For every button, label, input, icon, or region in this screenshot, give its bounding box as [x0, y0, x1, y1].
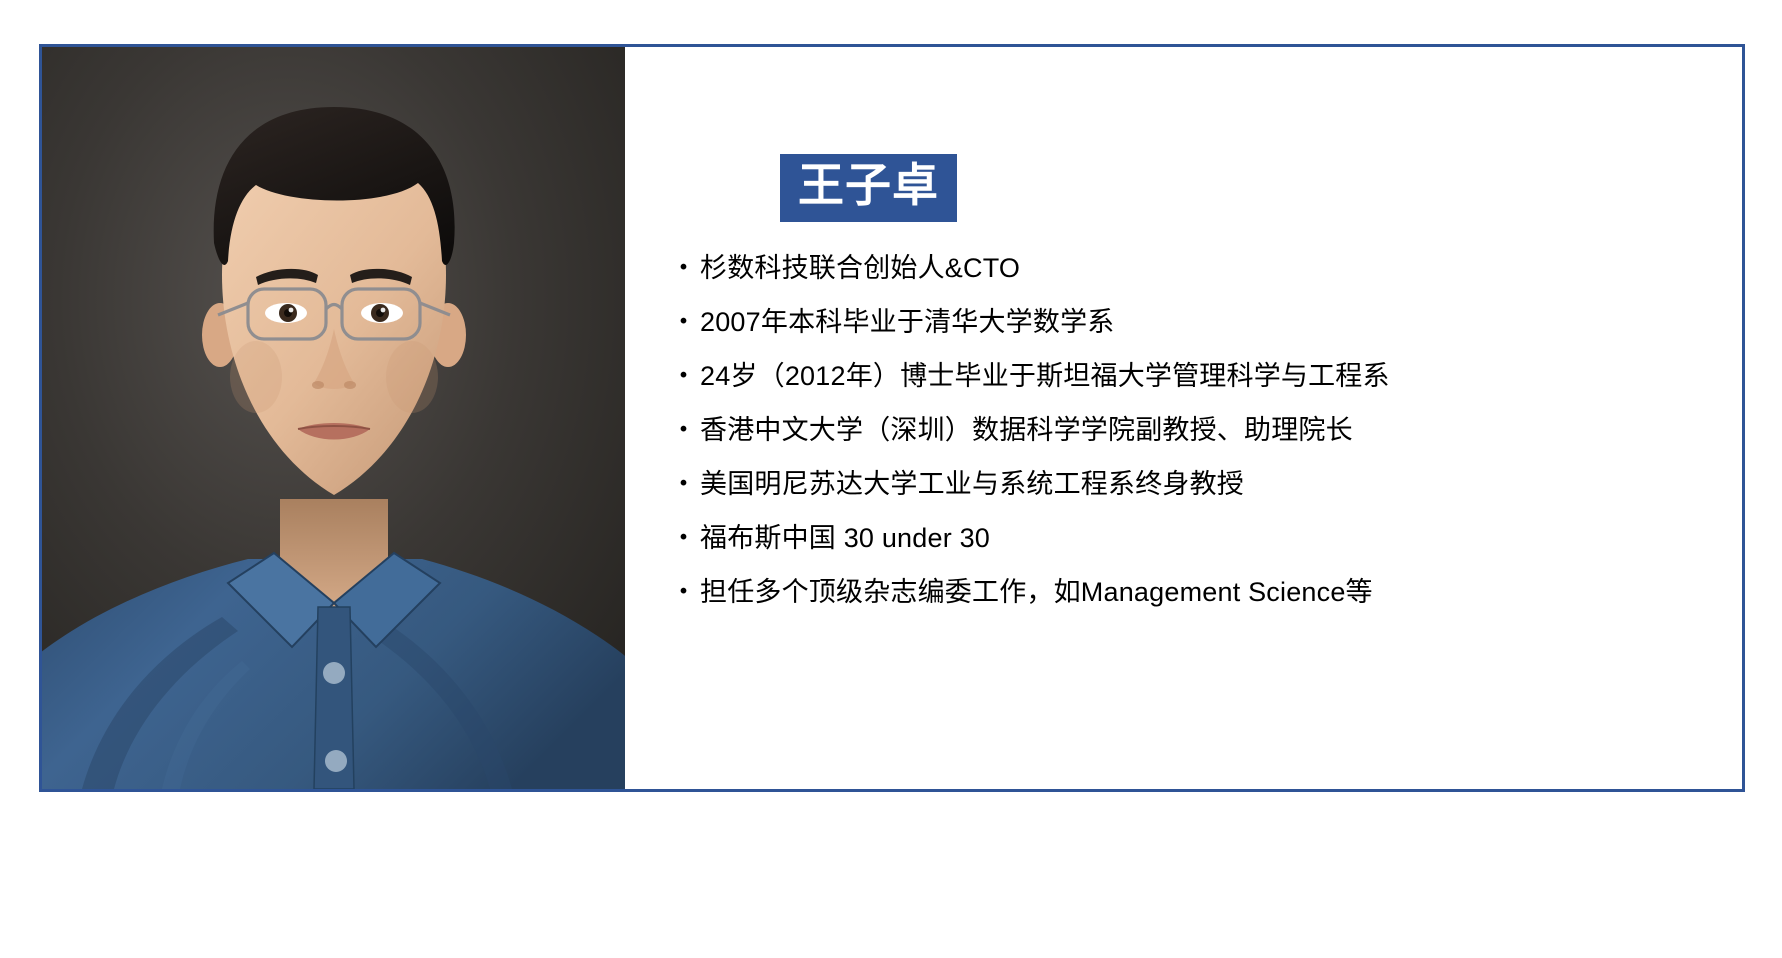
list-item: ・ 担任多个顶级杂志编委工作，如Management Science等 — [664, 576, 1739, 630]
list-item: ・ 美国明尼苏达大学工业与系统工程系终身教授 — [664, 468, 1739, 522]
portrait-photo — [42, 47, 625, 789]
bullet-marker-icon: ・ — [664, 579, 700, 606]
list-item-label: 担任多个顶级杂志编委工作，如Management Science等 — [700, 576, 1373, 608]
list-item-label: 香港中文大学（深圳）数据科学学院副教授、助理院长 — [700, 414, 1353, 446]
list-item-label: 杉数科技联合创始人&CTO — [700, 252, 1020, 284]
slide-canvas: 王子卓 ・ 杉数科技联合创始人&CTO ・ 2007年本科毕业于清华大学数学系 … — [0, 0, 1782, 958]
shirt-button — [323, 662, 345, 684]
bullet-marker-icon: ・ — [664, 417, 700, 444]
bullet-marker-icon: ・ — [664, 309, 700, 336]
bullet-marker-icon: ・ — [664, 363, 700, 390]
list-item: ・ 2007年本科毕业于清华大学数学系 — [664, 306, 1739, 360]
bullet-marker-icon: ・ — [664, 255, 700, 282]
shirt-button — [325, 750, 347, 772]
name-title-badge: 王子卓 — [780, 154, 957, 222]
bullet-marker-icon: ・ — [664, 471, 700, 498]
list-item: ・ 杉数科技联合创始人&CTO — [664, 252, 1739, 306]
list-item: ・ 香港中文大学（深圳）数据科学学院副教授、助理院长 — [664, 414, 1739, 468]
bullet-marker-icon: ・ — [664, 525, 700, 552]
content-panel: 王子卓 ・ 杉数科技联合创始人&CTO ・ 2007年本科毕业于清华大学数学系 … — [628, 47, 1742, 789]
bio-bullet-list: ・ 杉数科技联合创始人&CTO ・ 2007年本科毕业于清华大学数学系 ・ 24… — [664, 252, 1739, 630]
portrait-photo-image — [42, 47, 625, 789]
list-item-label: 福布斯中国 30 under 30 — [700, 522, 990, 554]
list-item-label: 24岁（2012年）博士毕业于斯坦福大学管理科学与工程系 — [700, 360, 1390, 392]
list-item: ・ 福布斯中国 30 under 30 — [664, 522, 1739, 576]
list-item: ・ 24岁（2012年）博士毕业于斯坦福大学管理科学与工程系 — [664, 360, 1739, 414]
list-item-label: 2007年本科毕业于清华大学数学系 — [700, 306, 1114, 338]
list-item-label: 美国明尼苏达大学工业与系统工程系终身教授 — [700, 468, 1244, 500]
page-title: 王子卓 — [798, 160, 939, 212]
